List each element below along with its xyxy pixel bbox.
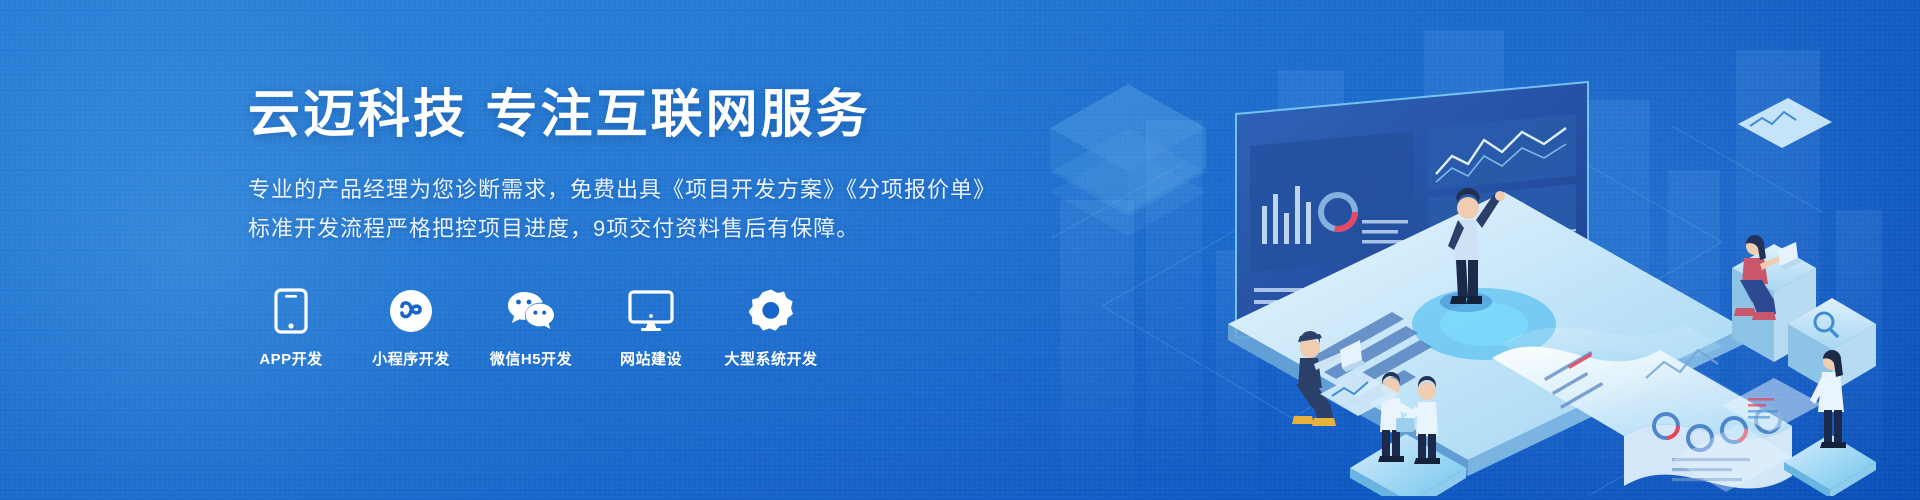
service-list: APP开发 小程序开发 xyxy=(248,287,1148,369)
service-item-mini-program[interactable]: 小程序开发 xyxy=(368,287,454,369)
city-silhouette xyxy=(1020,0,1920,500)
service-label: 微信H5开发 xyxy=(490,348,572,369)
promo-banner: 云迈科技 专注互联网服务 专业的产品经理为您诊断需求，免费出具《项目开发方案》《… xyxy=(0,0,1920,500)
service-item-website[interactable]: 网站建设 xyxy=(608,287,694,369)
subheading-line-2: 标准开发流程严格把控项目进度，9项交付资料售后有保障。 xyxy=(248,209,1148,248)
banner-subheading: 专业的产品经理为您诊断需求，免费出具《项目开发方案》《分项报价单》 标准开发流程… xyxy=(248,170,1148,248)
service-label: 大型系统开发 xyxy=(725,348,818,369)
service-item-app[interactable]: APP开发 xyxy=(248,287,334,369)
background-glow-right xyxy=(1250,0,1920,500)
smartphone-icon xyxy=(267,287,315,335)
monitor-icon xyxy=(627,287,675,335)
service-item-wechat-h5[interactable]: 微信H5开发 xyxy=(488,287,574,369)
page-title: 云迈科技 专注互联网服务 xyxy=(248,86,1148,144)
banner-content: 云迈科技 专注互联网服务 专业的产品经理为您诊断需求，免费出具《项目开发方案》《… xyxy=(248,86,1148,369)
service-label: APP开发 xyxy=(259,348,322,369)
service-label: 网站建设 xyxy=(620,348,682,369)
gear-icon xyxy=(747,287,795,335)
service-item-large-system[interactable]: 大型系统开发 xyxy=(728,287,814,369)
service-label: 小程序开发 xyxy=(372,348,450,369)
subheading-line-1: 专业的产品经理为您诊断需求，免费出具《项目开发方案》《分项报价单》 xyxy=(248,170,1148,209)
illustration-isometric-tech xyxy=(1032,6,1892,496)
mini-program-icon xyxy=(387,287,435,335)
wechat-icon xyxy=(507,287,555,335)
